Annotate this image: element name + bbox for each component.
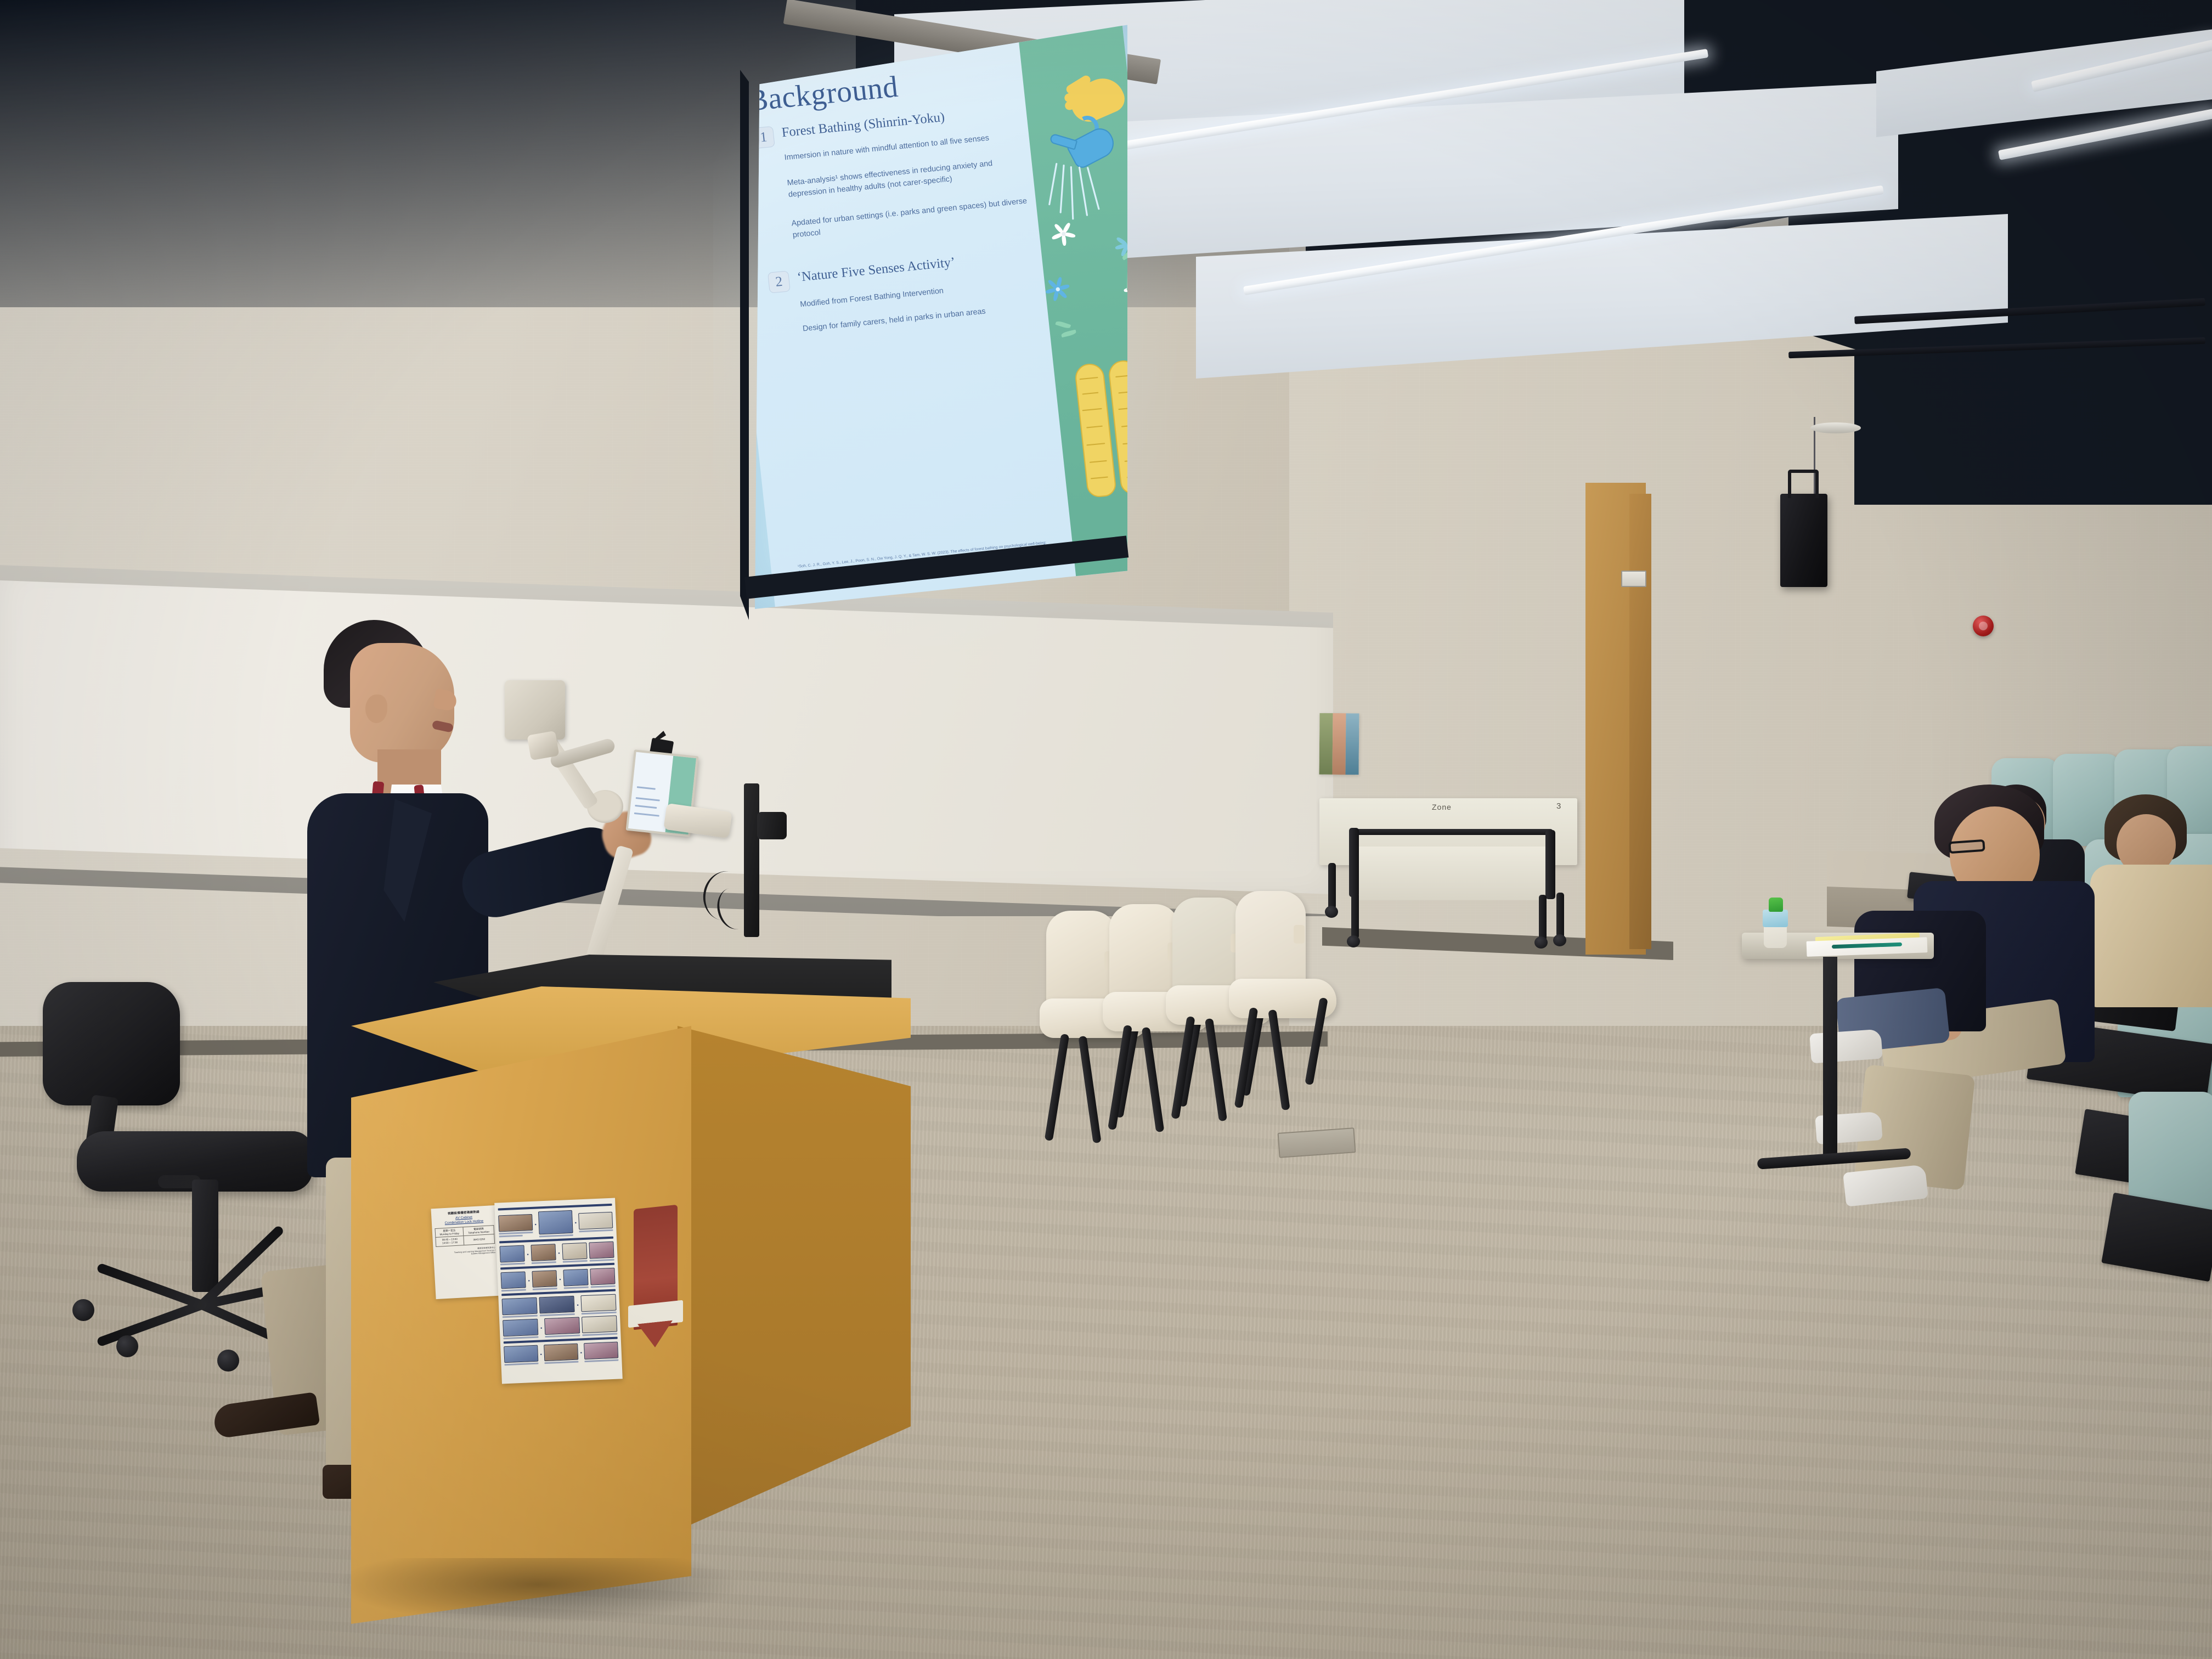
flip-table-rail [1356,829,1553,835]
lectern-front-panel: 視聽設備櫃密碼鎖熱線 AV Cabinet Combination Lock H… [351,1026,691,1624]
slide-section-number: 2 [768,270,791,294]
flip-table-zone-label: Zone [1432,803,1452,811]
bottle-cap[interactable] [1769,898,1783,912]
chair-caster [72,1299,94,1321]
flip-table-caster [1553,934,1566,946]
screen-left-edge [740,22,749,620]
exit-door[interactable] [1629,494,1651,949]
stacking-chair[interactable] [1229,891,1350,1121]
lectern-side-panel [678,1026,911,1575]
doccam-camera-head [505,680,565,740]
flip-table-leg [1539,895,1547,941]
lecture-hall-scene: Background 1 Forest Bathing (Shinrin-Yok… [0,0,2212,1659]
equipment-clamp [757,812,787,839]
table-pedestal [1823,957,1837,1160]
brain-icon [1074,359,1127,498]
round-side-table [1742,900,1939,1218]
slide-bullet: Meta-analysis¹ shows effectiveness in re… [787,154,1032,200]
exit-sign [1621,571,1646,587]
av-instruction-poster: ● ● ● ● ● [494,1198,623,1384]
water-stream [1048,163,1058,206]
ceiling-speaker [1780,494,1827,587]
flower-blue [1045,276,1070,302]
notice-hours-2: 14:00 – 17:30 [437,1240,464,1245]
water-stream [1059,165,1064,213]
chair-backrest [43,982,180,1105]
presenter-ear [365,695,387,723]
eyeglasses [1948,839,1985,854]
flip-table-apron [1351,847,1554,900]
slide-bullet: Apdated for urban settings (i.e. parks a… [791,194,1037,240]
water-stream [1070,166,1074,219]
leaf-icon [1061,330,1077,338]
flip-table-leg [1556,893,1564,939]
microphone-head [527,731,559,760]
flip-table-zone-number: 3 [1556,802,1561,811]
projected-slide: Background 1 Forest Bathing (Shinrin-Yok… [743,22,1127,609]
fire-alarm-bell [1973,616,1994,636]
av-hotline-notice: 視聽設備櫃密碼鎖熱線 AV Cabinet Combination Lock H… [431,1205,500,1299]
projection-screen: Background 1 Forest Bathing (Shinrin-Yok… [743,22,1160,658]
flip-table-bracket [1545,830,1555,899]
lectern-crest-tip [637,1321,673,1350]
notice-phone: 3943 6262 [465,1237,494,1242]
slide-section-heading: ‘Nature Five Senses Activity’ [797,255,956,285]
microphone-arm [549,737,617,769]
flip-table-leg [1351,893,1359,939]
chair-caster [217,1350,239,1372]
chair-caster [116,1335,138,1357]
leaf-icon [1055,320,1071,330]
slide-section-number: 1 [752,126,775,149]
flip-table-bracket [1349,828,1359,897]
flower-white [1052,222,1075,245]
water-stream [1087,167,1100,210]
ceiling-downlight [1810,422,1861,433]
notice-col1-en: Monday to Friday [436,1232,463,1236]
watering-can-spout [1049,133,1077,150]
bottle-label [1763,910,1788,927]
folded-flip-table: Zone 3 [1308,798,1594,963]
floor-service-box [1278,1127,1356,1158]
notice-table: 星期一至五 Monday to Friday 電話號碼 Telephone Nu… [435,1225,495,1247]
wall-poster [1319,713,1359,775]
water-stream [1079,166,1088,216]
lectern: 視聽設備櫃密碼鎖熱線 AV Cabinet Combination Lock H… [351,911,933,1624]
slide-section-heading: Forest Bathing (Shinrin-Yoku) [781,110,946,140]
ceiling-soffit-right [1854,351,2212,505]
lectern-floor-shadow [335,1558,741,1624]
flip-table-caster [1534,936,1548,949]
slide-title: Background [746,70,900,119]
screen-surface: Background 1 Forest Bathing (Shinrin-Yok… [743,22,1127,609]
